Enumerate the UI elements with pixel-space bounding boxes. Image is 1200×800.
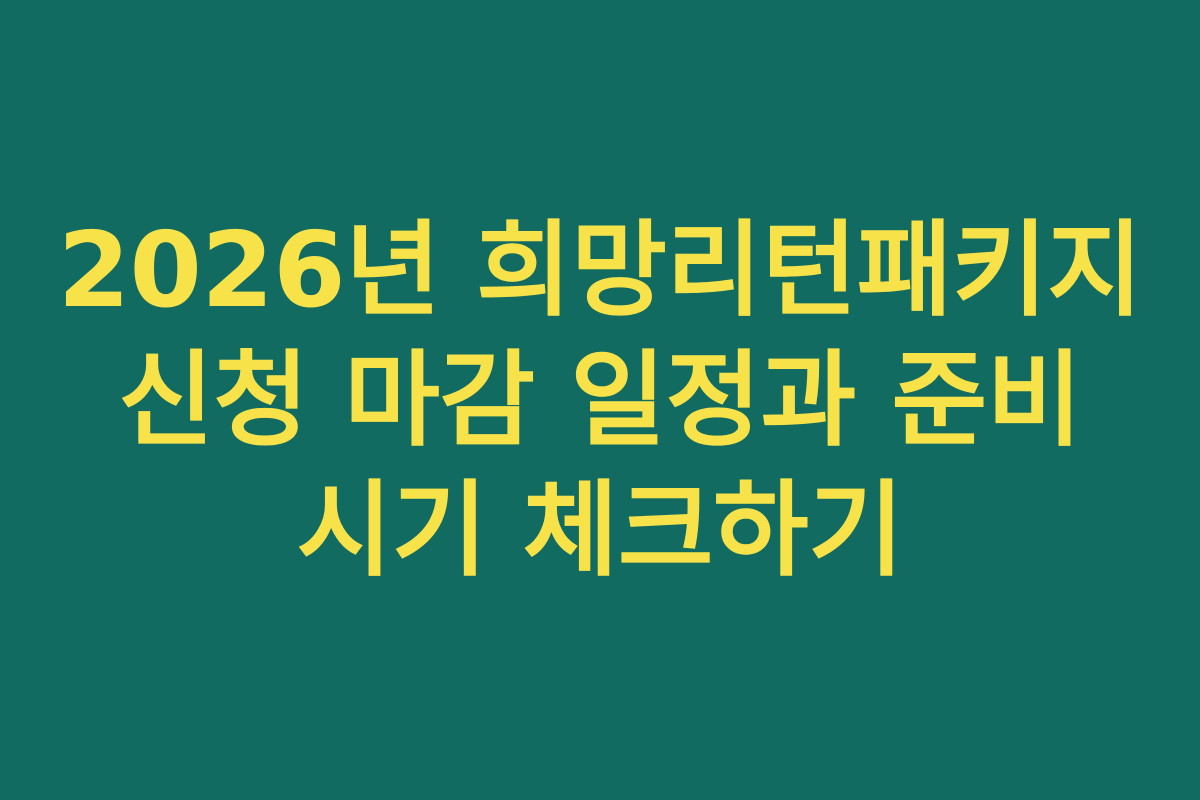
headline-line-1: 2026년 희망리턴패키지 bbox=[58, 205, 1143, 335]
headline-line-2: 신청 마감 일정과 준비 bbox=[118, 335, 1082, 465]
headline-line-3: 시기 체크하기 bbox=[297, 465, 904, 595]
headline-block: 2026년 희망리턴패키지 신청 마감 일정과 준비 시기 체크하기 bbox=[50, 205, 1150, 595]
thumbnail-card: 2026년 희망리턴패키지 신청 마감 일정과 준비 시기 체크하기 bbox=[0, 0, 1200, 800]
